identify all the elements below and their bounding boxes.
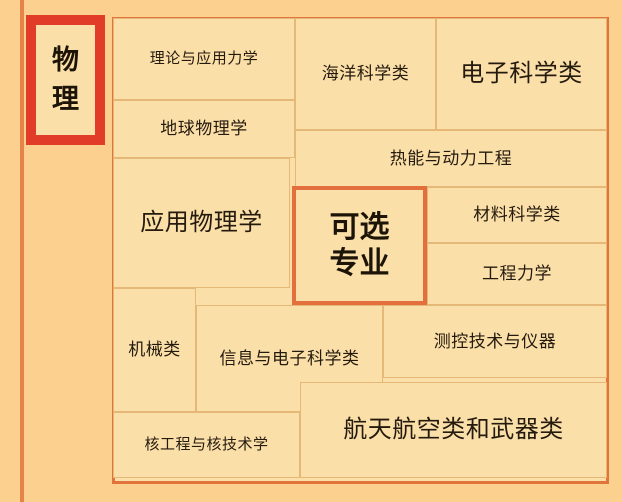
major-cell[interactable]: 核工程与核技术学 (113, 412, 300, 478)
major-cell[interactable]: 测控技术与仪器 (383, 305, 607, 378)
major-cell-label: 核工程与核技术学 (144, 436, 268, 453)
major-cell[interactable]: 工程力学 (427, 243, 607, 305)
major-cell-label: 热能与动力工程 (390, 149, 513, 169)
major-cell[interactable]: 航天航空类和武器类 (300, 382, 607, 478)
subject-badge-line1: 物 (52, 41, 79, 80)
major-cell-label: 信息与电子科学类 (220, 349, 360, 369)
callout-line1: 可选 (330, 210, 390, 245)
major-cell-label: 机械类 (128, 340, 181, 360)
major-cell[interactable]: 海洋科学类 (295, 18, 436, 130)
major-cell[interactable]: 地球物理学 (113, 100, 295, 158)
callout-line2: 专业 (330, 246, 390, 281)
subject-badge-line2: 理 (52, 80, 79, 119)
major-cell[interactable]: 应用物理学 (113, 158, 290, 288)
major-cell-label: 材料科学类 (473, 205, 561, 225)
callout-selectable-majors[interactable]: 可选 专业 (292, 186, 427, 305)
major-cell[interactable]: 理论与应用力学 (113, 18, 295, 100)
major-cell-label: 电子科学类 (460, 60, 583, 88)
subject-badge-physics[interactable]: 物 理 (26, 15, 105, 145)
major-cell[interactable]: 热能与动力工程 (295, 130, 607, 187)
major-cell-label: 地球物理学 (160, 119, 248, 139)
left-margin-rule (20, 0, 24, 502)
poster-canvas: 物 理 理论与应用力学地球物理学海洋科学类电子科学类热能与动力工程应用物理学材料… (0, 0, 622, 502)
major-cell-label: 应用物理学 (140, 209, 263, 237)
major-cell[interactable]: 材料科学类 (427, 187, 607, 243)
major-cell-label: 测控技术与仪器 (434, 332, 557, 352)
major-cell-label: 航天航空类和武器类 (343, 416, 564, 444)
major-cell-label: 海洋科学类 (322, 64, 410, 84)
major-cell[interactable]: 电子科学类 (436, 18, 607, 130)
major-cell-label: 理论与应用力学 (150, 50, 259, 67)
major-cell-label: 工程力学 (482, 264, 552, 284)
major-cell[interactable]: 机械类 (113, 288, 196, 412)
